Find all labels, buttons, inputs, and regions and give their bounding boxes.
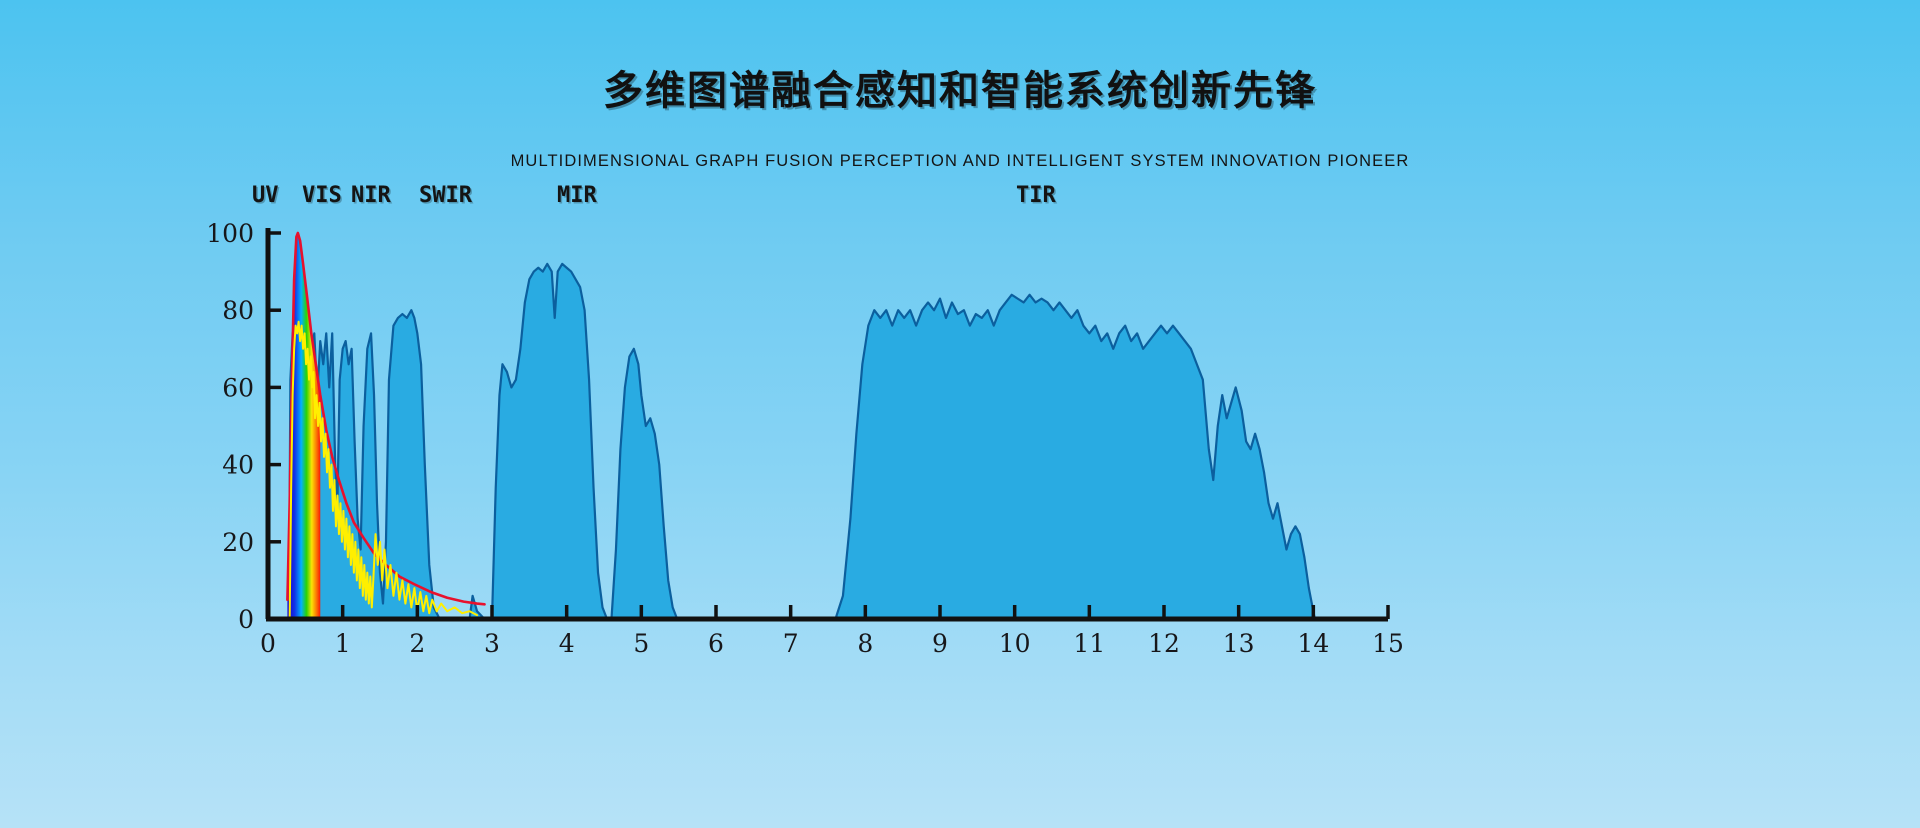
y-tick-label: 0 bbox=[238, 605, 254, 634]
transmission-area-group bbox=[287, 233, 1314, 619]
x-tick-label: 3 bbox=[484, 629, 500, 658]
y-tick-label: 100 bbox=[206, 219, 254, 248]
series-atmospheric-transmission bbox=[289, 264, 1315, 619]
y-tick-label: 20 bbox=[222, 528, 254, 557]
x-tick-label: 12 bbox=[1148, 629, 1180, 658]
x-tick-label: 4 bbox=[559, 629, 575, 658]
banner-root: 多维图谱融合感知和智能系统创新先锋 MULTIDIMENSIONAL GRAPH… bbox=[0, 0, 1920, 828]
band-label-vis: VIS bbox=[302, 183, 342, 208]
page-subtitle: MULTIDIMENSIONAL GRAPH FUSION PERCEPTION… bbox=[0, 152, 1920, 171]
y-tick-label: 60 bbox=[222, 373, 254, 402]
x-tick-label: 10 bbox=[999, 629, 1031, 658]
x-tick-label: 5 bbox=[633, 629, 649, 658]
y-tick-label: 80 bbox=[222, 296, 254, 325]
band-label-mir: MIR bbox=[557, 183, 597, 208]
band-label-tir: TIR bbox=[1016, 183, 1056, 208]
spectrum-chart: UVVISNIRSWIRMIRTIR 020406080100012345678… bbox=[0, 180, 1920, 680]
x-tick-label: 8 bbox=[857, 629, 873, 658]
x-tick-label: 1 bbox=[335, 629, 351, 658]
x-tick-label: 0 bbox=[260, 629, 276, 658]
spectrum-plot-svg: 0204060801000123456789101112131415 bbox=[0, 180, 1920, 680]
x-tick-label: 9 bbox=[932, 629, 948, 658]
x-tick-label: 15 bbox=[1372, 629, 1404, 658]
band-label-swir: SWIR bbox=[419, 183, 472, 208]
x-tick-label: 11 bbox=[1073, 629, 1105, 658]
x-tick-label: 7 bbox=[783, 629, 799, 658]
x-tick-label: 2 bbox=[409, 629, 425, 658]
band-label-uv: UV bbox=[252, 183, 279, 208]
x-tick-label: 6 bbox=[708, 629, 724, 658]
page-title: 多维图谱融合感知和智能系统创新先锋 bbox=[0, 58, 1920, 116]
x-tick-label: 14 bbox=[1297, 629, 1329, 658]
band-label-nir: NIR bbox=[351, 183, 391, 208]
y-tick-label: 40 bbox=[222, 451, 254, 480]
x-tick-label: 13 bbox=[1223, 629, 1255, 658]
